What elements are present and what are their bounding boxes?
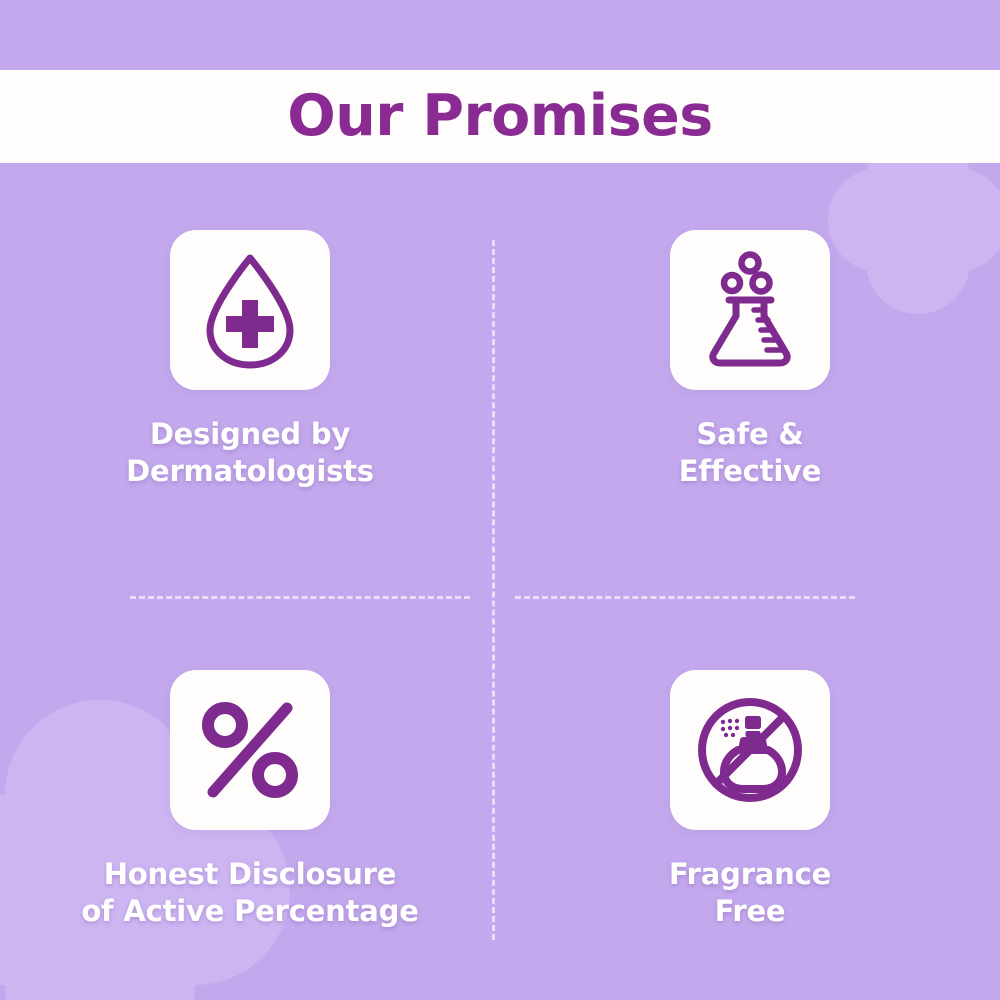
droplet-cross-icon	[196, 250, 304, 370]
promise-label: Designed by Dermatologists	[126, 416, 374, 490]
title-band: Our Promises	[0, 70, 1000, 163]
promise-item-designed-by-dermatologists: Designed by Dermatologists	[0, 163, 500, 582]
promise-item-fragrance-free: Fragrance Free	[500, 582, 1000, 1000]
icon-card	[670, 670, 830, 830]
icon-card	[670, 230, 830, 390]
promises-grid: Designed by Dermatologists	[0, 163, 1000, 1000]
promise-item-honest-disclosure: Honest Disclosure of Active Percentage	[0, 582, 500, 1000]
page-title: Our Promises	[287, 88, 712, 145]
no-fragrance-icon	[693, 693, 807, 807]
promise-item-safe-and-effective: Safe & Effective	[500, 163, 1000, 582]
icon-card	[170, 230, 330, 390]
percent-icon	[195, 698, 305, 802]
icon-card	[170, 670, 330, 830]
promise-label: Safe & Effective	[679, 416, 821, 490]
our-promises-poster: Our Promises Designed by Dermatologists	[0, 0, 1000, 1000]
flask-bubbles-icon	[697, 250, 803, 370]
promise-label: Honest Disclosure of Active Percentage	[81, 856, 418, 930]
promise-label: Fragrance Free	[669, 856, 831, 930]
